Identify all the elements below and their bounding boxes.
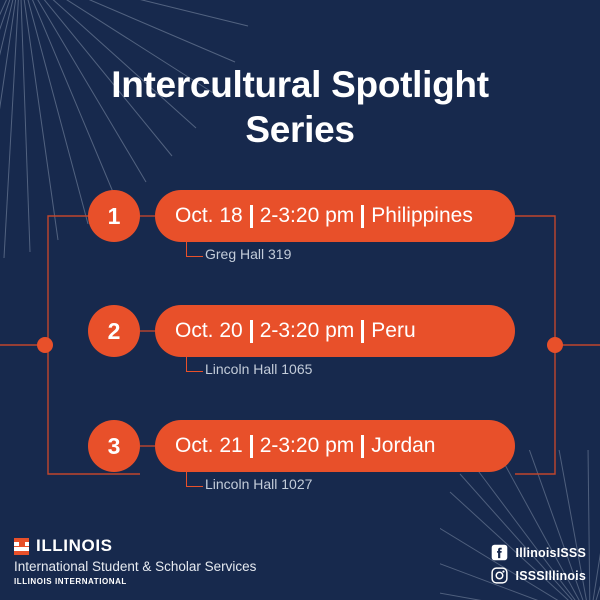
- social-link-facebook[interactable]: IllinoisISSS: [491, 544, 586, 561]
- event-location: Greg Hall 319: [205, 246, 291, 262]
- event-country: Philippines: [371, 204, 473, 228]
- event-pill[interactable]: Oct. 20 2-3:20 pm Peru: [155, 305, 515, 357]
- event-separator-icon: [250, 320, 253, 343]
- event-country: Peru: [371, 319, 415, 343]
- event-timeline: 1 Oct. 18 2-3:20 pm Philippines Greg Hal…: [0, 190, 600, 500]
- location-elbow-connector: [186, 357, 203, 372]
- page-title: Intercultural Spotlight Series: [0, 62, 600, 152]
- location-elbow-connector: [186, 242, 203, 257]
- social-link-instagram[interactable]: ISSSIllinois: [491, 567, 586, 584]
- event-number-badge: 2: [88, 305, 140, 357]
- event-row[interactable]: 2 Oct. 20 2-3:20 pm Peru Lincoln Hall 10…: [0, 305, 600, 365]
- event-number-badge: 1: [88, 190, 140, 242]
- facebook-handle: IllinoisISSS: [516, 546, 586, 560]
- facebook-icon: [491, 544, 508, 561]
- instagram-handle: ISSSIllinois: [516, 569, 586, 583]
- illinois-block-i-icon: [14, 538, 29, 555]
- footer: ILLINOIS International Student & Scholar…: [0, 522, 600, 600]
- title-line-2: Series: [0, 107, 600, 152]
- social-links: IllinoisISSS ISSSIllinois: [491, 544, 586, 584]
- brand-lockup: ILLINOIS International Student & Scholar…: [14, 536, 256, 586]
- event-separator-icon: [250, 205, 253, 228]
- event-pill[interactable]: Oct. 21 2-3:20 pm Jordan: [155, 420, 515, 472]
- event-separator-icon: [361, 205, 364, 228]
- event-time: 2-3:20 pm: [260, 434, 355, 458]
- event-date: Oct. 21: [175, 434, 243, 458]
- brand-subtitle: International Student & Scholar Services: [14, 559, 256, 574]
- event-location: Lincoln Hall 1065: [205, 361, 312, 377]
- event-separator-icon: [361, 435, 364, 458]
- brand-top-row: ILLINOIS: [14, 536, 256, 556]
- event-row[interactable]: 3 Oct. 21 2-3:20 pm Jordan Lincoln Hall …: [0, 420, 600, 480]
- brand-tagline: ILLINOIS INTERNATIONAL: [14, 577, 256, 586]
- event-country: Jordan: [371, 434, 435, 458]
- title-line-1: Intercultural Spotlight: [0, 62, 600, 107]
- event-row[interactable]: 1 Oct. 18 2-3:20 pm Philippines Greg Hal…: [0, 190, 600, 250]
- event-number-badge: 3: [88, 420, 140, 472]
- event-pill[interactable]: Oct. 18 2-3:20 pm Philippines: [155, 190, 515, 242]
- event-separator-icon: [250, 435, 253, 458]
- event-separator-icon: [361, 320, 364, 343]
- brand-name: ILLINOIS: [36, 536, 113, 556]
- poster-canvas: Intercultural Spotlight Series 1 Oct.: [0, 0, 600, 600]
- instagram-icon: [491, 567, 508, 584]
- event-time: 2-3:20 pm: [260, 204, 355, 228]
- location-elbow-connector: [186, 472, 203, 487]
- event-date: Oct. 20: [175, 319, 243, 343]
- event-location: Lincoln Hall 1027: [205, 476, 312, 492]
- event-time: 2-3:20 pm: [260, 319, 355, 343]
- event-date: Oct. 18: [175, 204, 243, 228]
